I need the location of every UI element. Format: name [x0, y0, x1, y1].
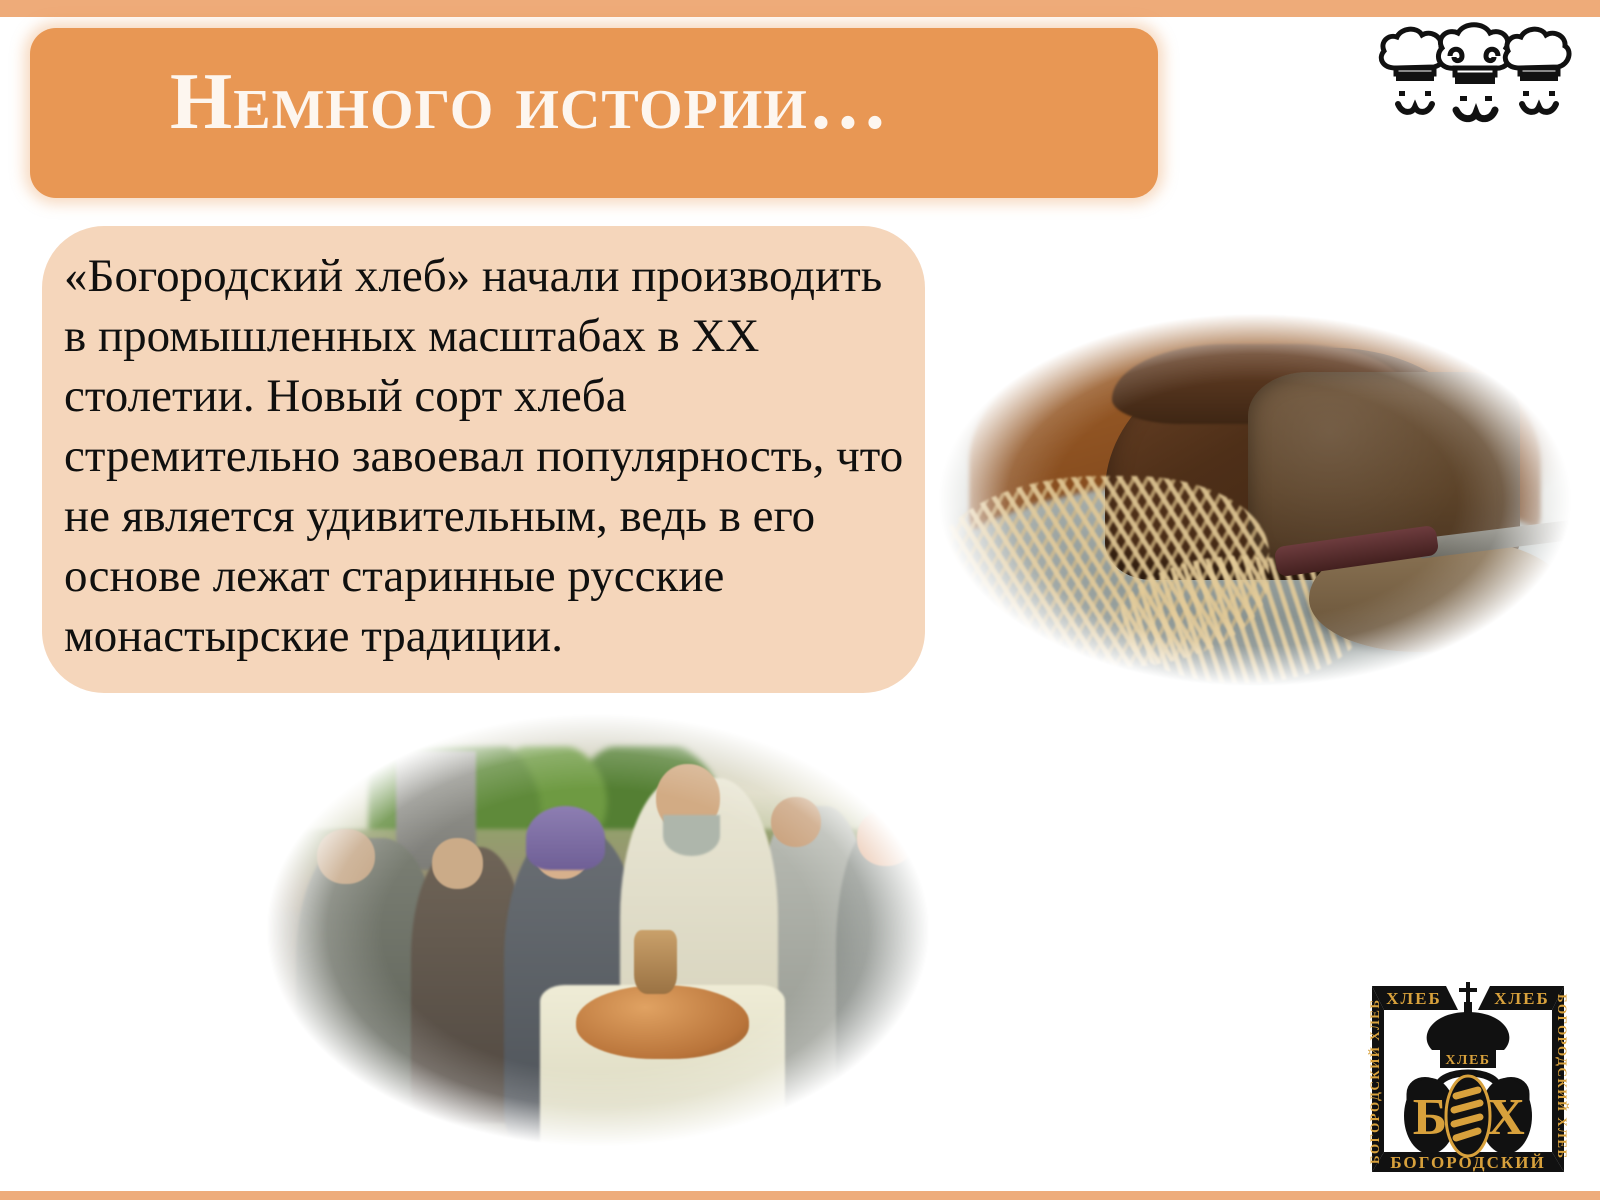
- bottom-orange-rule: [0, 1191, 1600, 1200]
- logo-word-right-side: БОГОРОДСКИЙ ХЛЕБ: [1555, 994, 1570, 1160]
- page-title: Немного истории…: [170, 58, 1070, 146]
- painting-head: [771, 797, 821, 848]
- logo-word-top-right: ХЛЕБ: [1494, 989, 1550, 1008]
- brand-logo-bogorodsky-khleb: ХЛЕБ ХЛЕБ БОГОРОДСКИЙ БОГОРОДСКИЙ ХЛЕБ Б…: [1354, 964, 1582, 1192]
- bread-photo: [915, 300, 1595, 700]
- logo-word-banner: ХЛЕБ: [1445, 1053, 1490, 1068]
- logo-monogram-left: Б: [1413, 1089, 1447, 1146]
- painting-figure: [836, 824, 937, 1137]
- painting-round-loaf: [576, 985, 749, 1059]
- painting-head: [317, 829, 375, 884]
- body-text-callout: «Богородский хлеб» начали производить в …: [42, 226, 925, 693]
- painting-head: [432, 838, 482, 889]
- logo-word-top-left: ХЛЕБ: [1386, 989, 1442, 1008]
- top-orange-rule: [0, 0, 1600, 17]
- logo-word-left-side: БОГОРОДСКИЙ ХЛЕБ: [1367, 998, 1382, 1164]
- painting-head: [857, 810, 915, 865]
- painting-salt-cellar: [634, 930, 677, 994]
- slide-canvas: Немного истории…: [0, 0, 1600, 1200]
- body-paragraph: «Богородский хлеб» начали производить в …: [64, 246, 904, 666]
- three-chef-hats-icon: [1372, 22, 1582, 127]
- logo-monogram-right: Х: [1487, 1089, 1525, 1146]
- bread-photo-background: [915, 300, 1595, 700]
- painting-kerchief: [526, 806, 605, 870]
- painting-bread-and-salt: [238, 700, 958, 1160]
